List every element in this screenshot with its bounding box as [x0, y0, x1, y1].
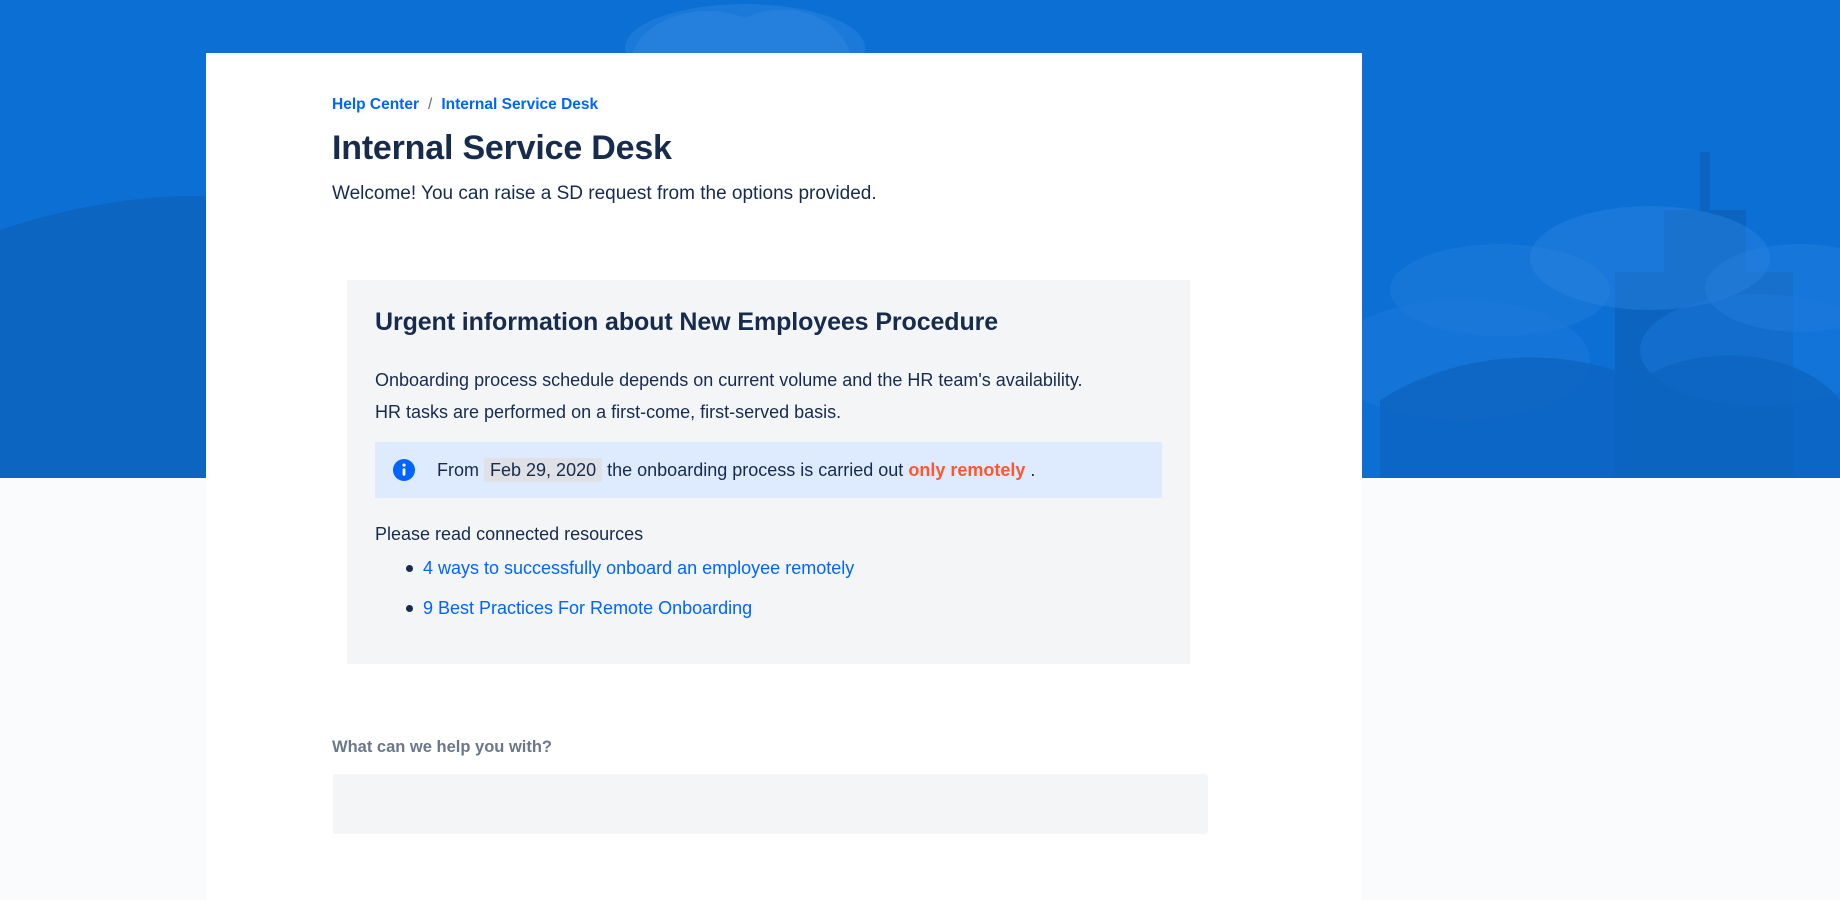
info-note-emphasis: only remotely [908, 460, 1025, 480]
info-icon [393, 459, 415, 481]
announcement-heading: Urgent information about New Employees P… [375, 306, 1162, 338]
page-subtitle: Welcome! You can raise a SD request from… [332, 181, 1362, 207]
help-search-label: What can we help you with? [332, 736, 1362, 758]
page-title: Internal Service Desk [332, 127, 1362, 169]
list-item: 4 ways to successfully onboard an employ… [375, 554, 1162, 582]
info-note-suffix: . [1030, 460, 1035, 480]
info-note-text: From Feb 29, 2020 the onboarding process… [437, 457, 1035, 483]
breadcrumb-separator: / [428, 95, 432, 115]
announcement-body: Onboarding process schedule depends on c… [375, 364, 1105, 428]
info-note-prefix: From [437, 460, 479, 480]
breadcrumb-item-internal-service-desk[interactable]: Internal Service Desk [441, 95, 598, 115]
info-note-date: Feb 29, 2020 [484, 458, 602, 482]
resource-link-9-best-practices[interactable]: 9 Best Practices For Remote Onboarding [423, 598, 752, 618]
help-search-input[interactable] [333, 774, 1208, 834]
resource-list: 4 ways to successfully onboard an employ… [375, 554, 1162, 622]
portal-content-card: Help Center / Internal Service Desk Inte… [206, 53, 1362, 900]
breadcrumb-item-help-center[interactable]: Help Center [332, 95, 419, 115]
breadcrumb: Help Center / Internal Service Desk [332, 95, 1362, 115]
announcement-panel: Urgent information about New Employees P… [347, 280, 1190, 664]
info-note: From Feb 29, 2020 the onboarding process… [375, 442, 1162, 498]
list-item: 9 Best Practices For Remote Onboarding [375, 594, 1162, 622]
help-section: What can we help you with? [332, 736, 1362, 834]
info-note-middle: the onboarding process is carried out [607, 460, 903, 480]
resources-label: Please read connected resources [375, 520, 1162, 548]
resource-link-remote-onboarding-4-ways[interactable]: 4 ways to successfully onboard an employ… [423, 558, 854, 578]
